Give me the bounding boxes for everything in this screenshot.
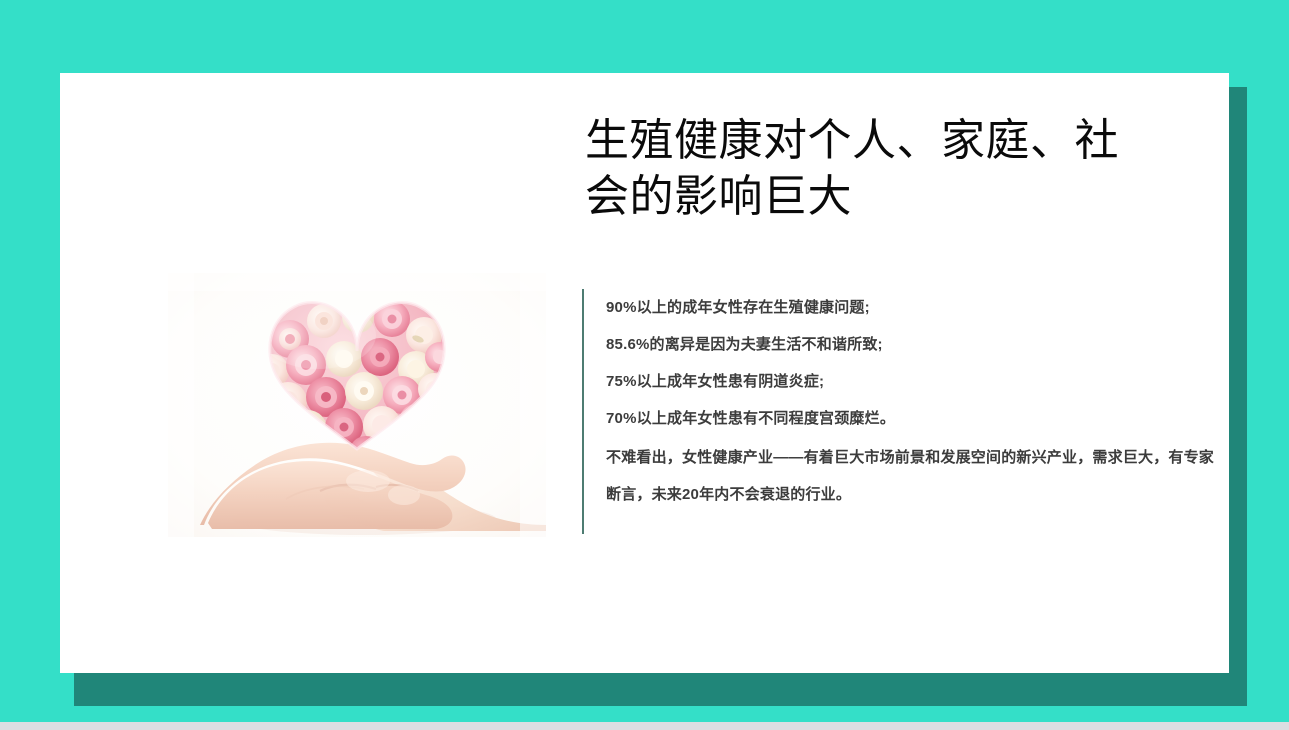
hands-holding-rose-heart-photo bbox=[168, 273, 546, 537]
stat-line: 70%以上成年女性患有不同程度宫颈糜烂。 bbox=[606, 400, 1226, 437]
stat-line: 75%以上成年女性患有阴道炎症; bbox=[606, 363, 1226, 400]
stat-line: 85.6%的离异是因为夫妻生活不和谐所致; bbox=[606, 326, 1226, 363]
summary-paragraph: 不难看出，女性健康产业——有着巨大市场前景和发展空间的新兴产业，需求巨大，有专家… bbox=[606, 439, 1224, 513]
body-lines: 90%以上的成年女性存在生殖健康问题; 85.6%的离异是因为夫妻生活不和谐所致… bbox=[606, 289, 1226, 513]
slide-content-card: 生殖健康对个人、家庭、社会的影响巨大 bbox=[60, 73, 1229, 673]
rose-heart-illustration bbox=[168, 273, 546, 537]
slide-root: 生殖健康对个人、家庭、社会的影响巨大 bbox=[0, 0, 1289, 730]
bottom-edge-strip bbox=[0, 722, 1289, 730]
stat-line: 90%以上的成年女性存在生殖健康问题; bbox=[606, 289, 1226, 326]
vertical-divider-rule bbox=[582, 289, 584, 534]
page-title: 生殖健康对个人、家庭、社会的影响巨大 bbox=[585, 113, 1145, 225]
